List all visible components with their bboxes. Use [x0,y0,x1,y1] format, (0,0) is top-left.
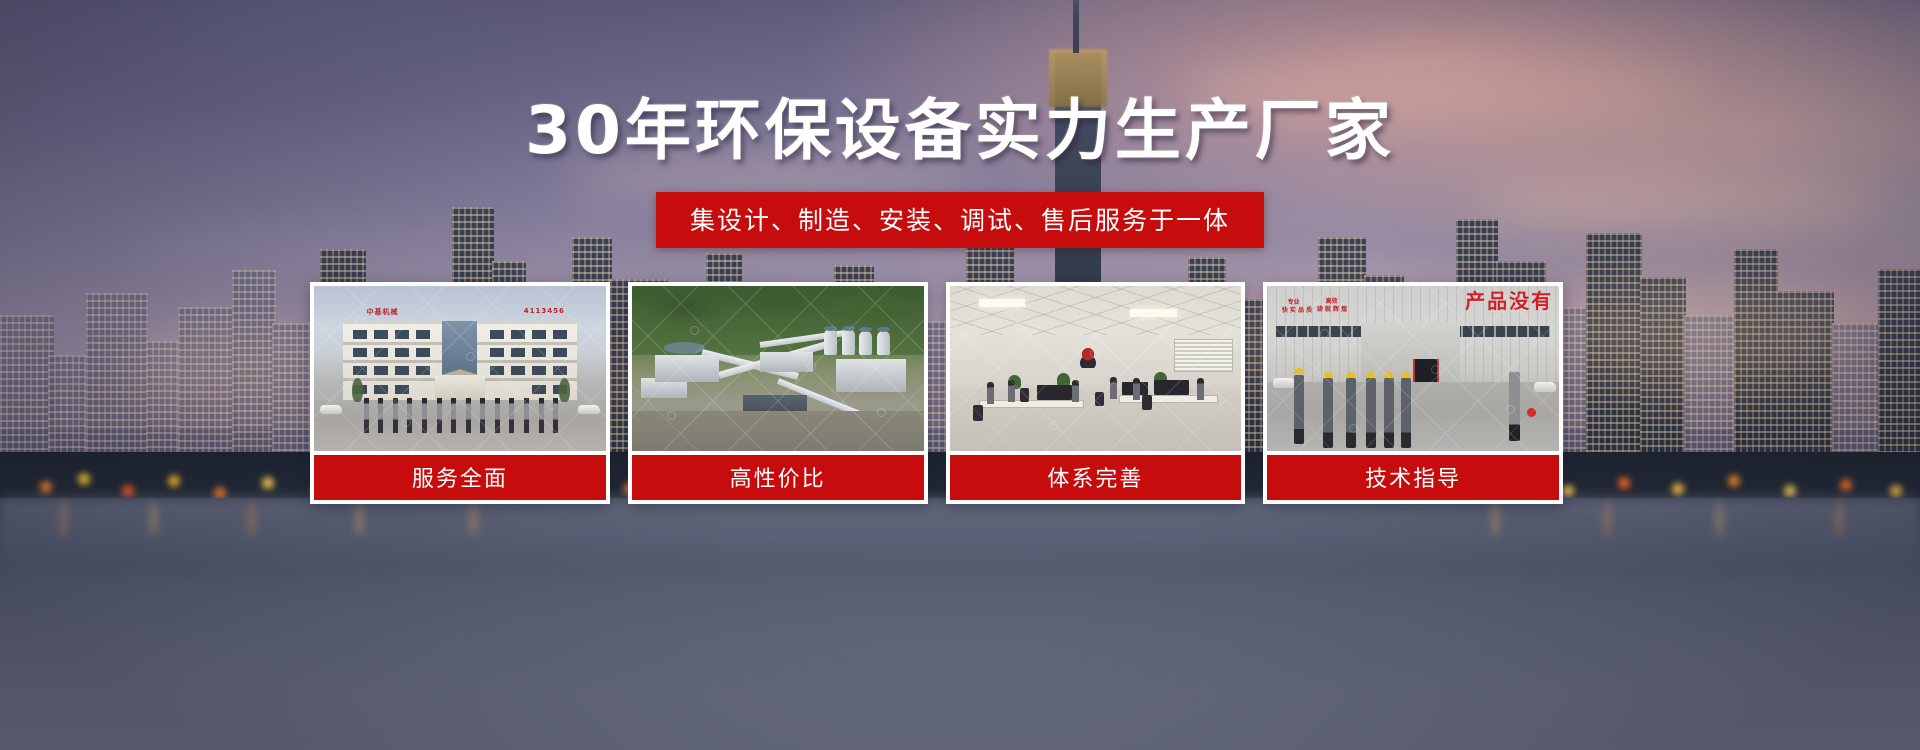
card-caption-system: 体系完善 [950,455,1242,500]
factory-slogan-4: 铸 就 辉 煌 [1317,306,1347,314]
card-photo-office [950,286,1242,451]
factory-wall-slogan: 产品没有 [1465,291,1553,311]
building-sign-text: 中基机械 [367,307,399,317]
feature-card-system[interactable]: 体系完善 [946,282,1246,504]
card-caption-guidance: 技术指导 [1267,455,1559,500]
building-phone-text: 4113456 [524,307,565,315]
factory-slogan-3: 高效 [1326,298,1338,306]
subtitle-banner: 集设计、制造、安装、调试、售后服务于一体 [656,192,1264,248]
card-caption-value: 高性价比 [632,455,924,500]
feature-card-guidance[interactable]: 产品没有 专业 快 实 品 质 高效 铸 就 辉 煌 [1263,282,1563,504]
card-photo-workers: 产品没有 专业 快 实 品 质 高效 铸 就 辉 煌 [1267,286,1559,451]
feature-card-list: 中基机械 4113456 [310,282,1563,504]
page-title: 30年环保设备实力生产厂家 [0,98,1920,164]
card-photo-headquarters: 中基机械 4113456 [314,286,606,451]
subtitle-text: 集设计、制造、安装、调试、售后服务于一体 [690,201,1230,237]
factory-slogan-1: 专业 [1288,299,1300,307]
hero-banner: 30年环保设备实力生产厂家 集设计、制造、安装、调试、售后服务于一体 [0,0,1920,750]
factory-slogan-2: 快 实 品 质 [1282,307,1312,315]
feature-card-value[interactable]: 高性价比 [628,282,928,504]
card-caption-service: 服务全面 [314,455,606,500]
card-photo-plant-aerial [632,286,924,451]
feature-card-service[interactable]: 中基机械 4113456 [310,282,610,504]
